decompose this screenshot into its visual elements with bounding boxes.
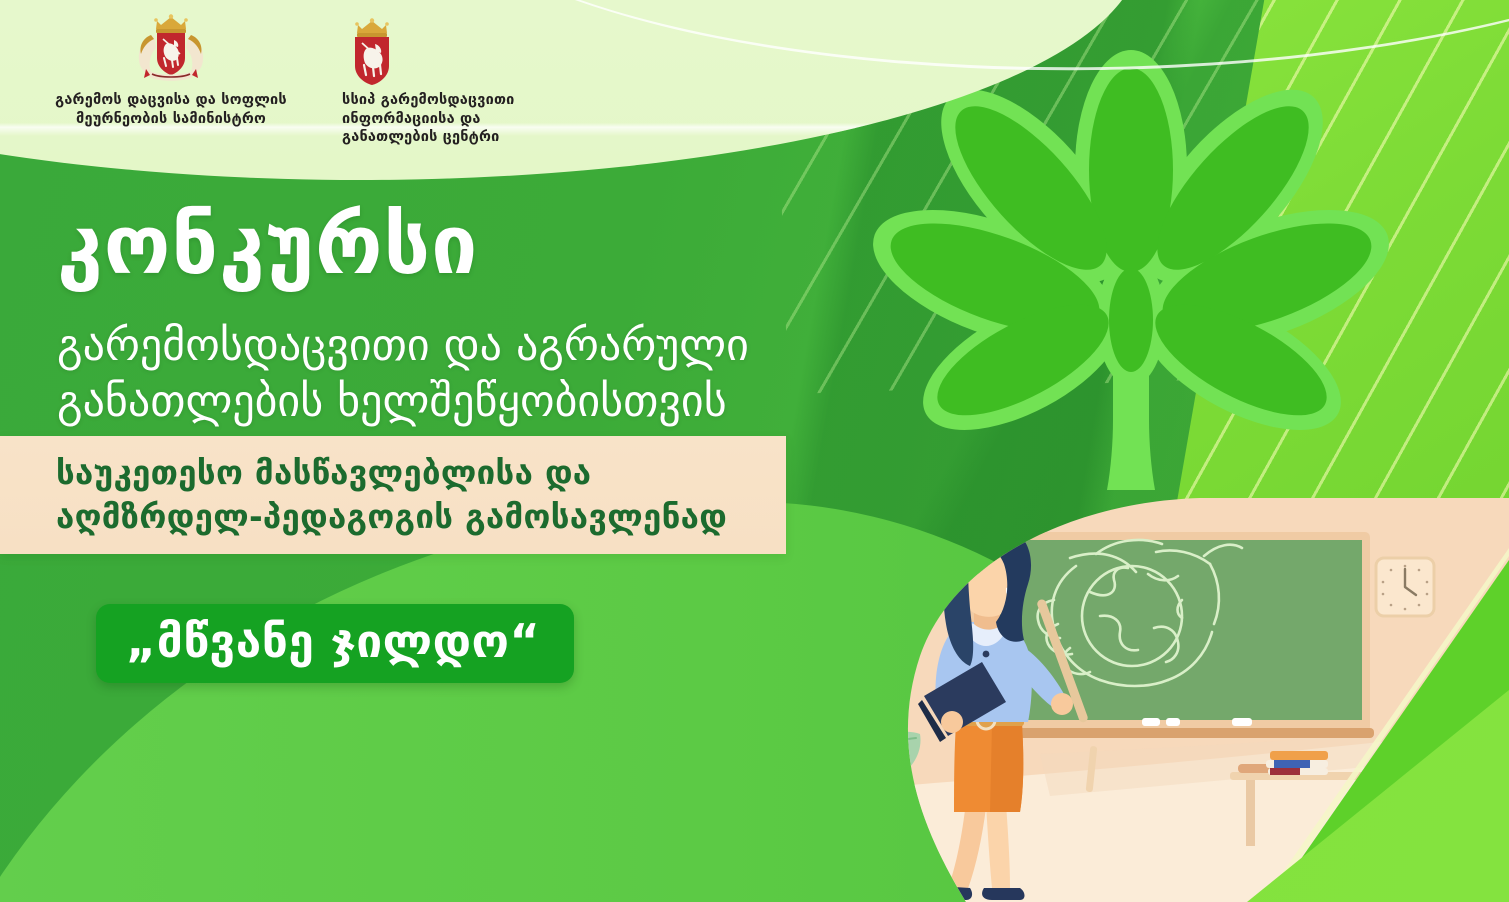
- poster-root: გარემოს დაცვისა და სოფლის მეურნეობის სამ…: [0, 0, 1509, 902]
- page-title: კონკურსი: [57, 205, 478, 287]
- page-subtitle: გარემოსდაცვითი და აგრარული განათლების ხე…: [57, 318, 749, 431]
- ministry-logo: გარემოს დაცვისა და სოფლის მეურნეობის სამ…: [40, 14, 302, 128]
- award-name-badge: „მწვანე ჯილდო“: [96, 604, 574, 683]
- georgia-shield-crest-icon: [344, 18, 400, 86]
- center-logo: სსიპ გარემოსდაცვითი ინფორმაციისა და განა…: [330, 18, 560, 147]
- georgia-national-coat-of-arms-icon: [130, 14, 212, 86]
- header-logos: გარემოს დაცვისა და სოფლის მეურნეობის სამ…: [0, 0, 640, 150]
- center-logo-caption: სსიპ გარემოსდაცვითი ინფორმაციისა და განა…: [330, 91, 560, 147]
- highlight-banner-text: საუკეთესო მასწავლებლისა და აღმზრდელ-პედა…: [0, 451, 727, 538]
- ministry-logo-caption: გარემოს დაცვისა და სოფლის მეურნეობის სამ…: [40, 91, 302, 128]
- highlight-banner: საუკეთესო მასწავლებლისა და აღმზრდელ-პედა…: [0, 436, 786, 554]
